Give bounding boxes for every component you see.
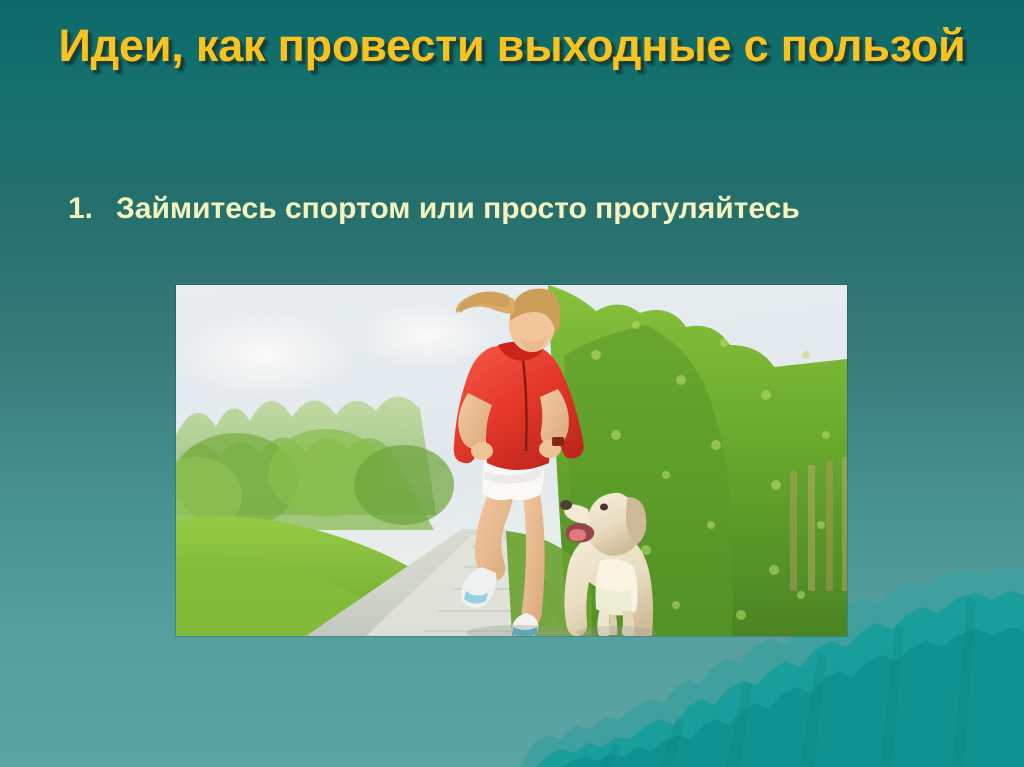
- slide-image: [176, 285, 847, 636]
- bullet-number: 1.: [68, 188, 93, 231]
- slide-title: Идеи, как провести выходные с пользой: [30, 18, 994, 75]
- presentation-slide: Идеи, как провести выходные с пользой 1.…: [0, 0, 1024, 767]
- mountain-ridge-front: [560, 627, 1024, 767]
- bullet-item: 1.Займитесь спортом или просто прогуляйт…: [68, 188, 816, 231]
- bullet-text: Займитесь спортом или просто прогуляйтес…: [116, 192, 800, 225]
- jogging-photo: [176, 285, 847, 636]
